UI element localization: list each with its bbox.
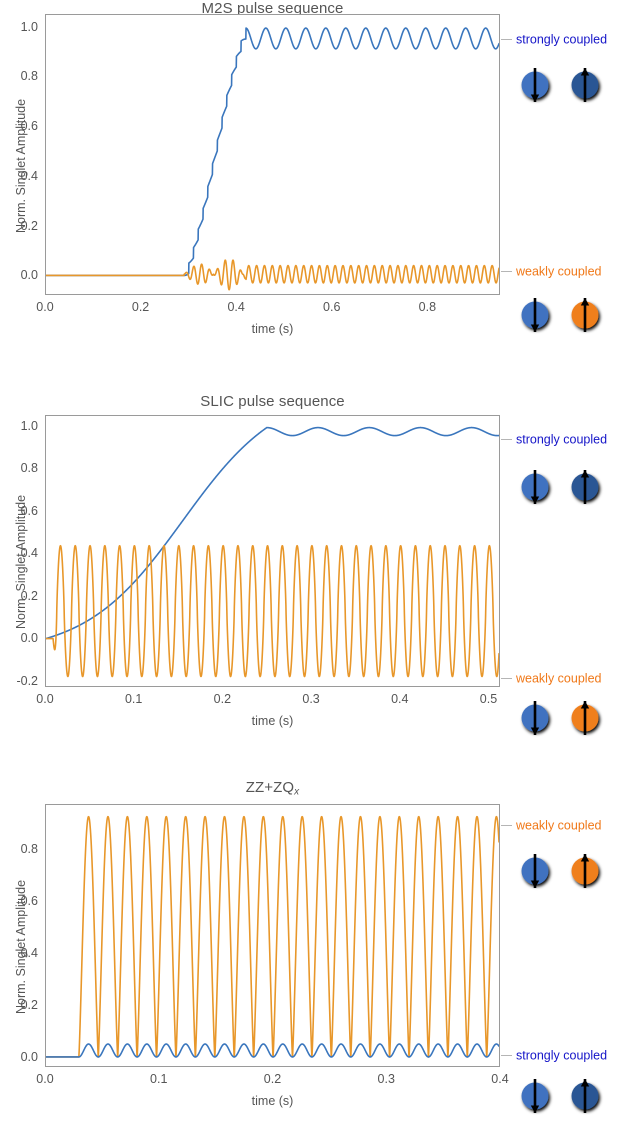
spin-down-light-blue-icon	[515, 464, 555, 510]
y-tick-label: 0.0	[0, 631, 38, 645]
y-axis-label: Norm. Singlet Amplitude	[14, 98, 28, 232]
y-tick-label: 0.8	[0, 69, 38, 83]
x-tick-label: 0.0	[20, 300, 70, 314]
series-line-strongly-coupled	[46, 28, 499, 275]
spin-down-light-blue-icon	[515, 1073, 555, 1119]
x-axis-label: time (s)	[45, 322, 500, 336]
panel-title-text: ZZ+ZQ	[246, 779, 294, 796]
y-tick-label: 0.8	[0, 461, 38, 475]
x-tick-label: 0.0	[20, 692, 70, 706]
plot-area-slic	[45, 415, 500, 687]
spin-pair-strongly-coupled	[515, 464, 625, 520]
spin-up-dark-blue-icon	[565, 464, 605, 510]
annotation-text: weakly coupled	[516, 819, 601, 833]
x-tick-label: 0.0	[20, 1072, 70, 1086]
y-tick-label: 0.0	[0, 268, 38, 282]
panel-title-subscript: x	[294, 787, 299, 798]
spin-up-orange-icon	[565, 695, 605, 741]
annotation-weakly-coupled: weakly coupled	[501, 264, 601, 279]
plot-area-zz_zqx	[45, 804, 500, 1067]
y-tick-label: 0.0	[0, 1050, 38, 1064]
y-tick-label: 1.0	[0, 20, 38, 34]
annotation-leader-line	[501, 439, 512, 440]
annotation-strongly-coupled: strongly coupled	[501, 32, 607, 47]
y-tick-label: 0.8	[0, 842, 38, 856]
annotation-leader-line	[501, 1055, 512, 1056]
chart-panel-zz_zqx: ZZ+ZQx0.00.20.40.60.80.00.10.20.30.4time…	[0, 770, 633, 1139]
panel-title-text: SLIC pulse sequence	[200, 393, 345, 410]
annotation-text: strongly coupled	[516, 433, 607, 447]
pulse-sequence-figure: M2S pulse sequence0.00.20.40.60.81.00.00…	[0, 0, 633, 1139]
annotation-text: strongly coupled	[516, 33, 607, 47]
spin-up-dark-blue-icon	[565, 1073, 605, 1119]
x-tick-label: 0.4	[375, 692, 425, 706]
annotation-strongly-coupled: strongly coupled	[501, 432, 607, 447]
x-tick-label: 0.2	[116, 300, 166, 314]
chart-panel-m2s: M2S pulse sequence0.00.20.40.60.81.00.00…	[0, 0, 633, 360]
y-tick-label: 1.0	[0, 419, 38, 433]
y-axis-label: Norm. Singlet Amplitude	[14, 495, 28, 629]
series-line-weakly-coupled	[46, 260, 499, 290]
annotation-text: weakly coupled	[516, 265, 601, 279]
x-tick-label: 0.6	[307, 300, 357, 314]
plot-area-m2s	[45, 14, 500, 295]
chart-panel-slic: SLIC pulse sequence-0.20.00.20.40.60.81.…	[0, 380, 633, 760]
annotation-text: weakly coupled	[516, 672, 601, 686]
series-line-strongly-coupled	[46, 428, 499, 639]
annotation-weakly-coupled: weakly coupled	[501, 818, 601, 833]
annotation-strongly-coupled: strongly coupled	[501, 1048, 607, 1063]
annotation-leader-line	[501, 271, 512, 272]
annotation-leader-line	[501, 825, 512, 826]
x-axis-label: time (s)	[45, 714, 500, 728]
y-axis-label: Norm. Singlet Amplitude	[14, 879, 28, 1013]
x-tick-label: 0.5	[463, 692, 513, 706]
panel-title-zz_zqx: ZZ+ZQx	[45, 779, 500, 798]
x-tick-label: 0.2	[248, 1072, 298, 1086]
spin-up-orange-icon	[565, 848, 605, 894]
spin-down-blue-icon	[515, 695, 555, 741]
annotation-leader-line	[501, 39, 512, 40]
x-tick-label: 0.4	[211, 300, 261, 314]
x-axis-label: time (s)	[45, 1094, 500, 1108]
x-tick-label: 0.1	[109, 692, 159, 706]
x-tick-label: 0.1	[134, 1072, 184, 1086]
series-line-weakly-coupled	[46, 817, 499, 1057]
x-tick-label: 0.8	[402, 300, 452, 314]
spin-up-orange-icon	[565, 292, 605, 338]
x-tick-label: 0.2	[197, 692, 247, 706]
x-tick-label: 0.3	[361, 1072, 411, 1086]
spin-down-blue-icon	[515, 292, 555, 338]
spin-pair-weakly-coupled	[515, 848, 625, 904]
spin-up-dark-blue-icon	[565, 62, 605, 108]
series-line-weakly-coupled	[46, 546, 499, 677]
annotation-leader-line	[501, 678, 512, 679]
annotation-text: strongly coupled	[516, 1049, 607, 1063]
spin-pair-weakly-coupled	[515, 292, 625, 348]
annotation-weakly-coupled: weakly coupled	[501, 671, 601, 686]
panel-title-slic: SLIC pulse sequence	[45, 393, 500, 410]
spin-pair-weakly-coupled	[515, 695, 625, 751]
spin-down-blue-icon	[515, 848, 555, 894]
spin-pair-strongly-coupled	[515, 62, 625, 118]
spin-down-light-blue-icon	[515, 62, 555, 108]
spin-pair-strongly-coupled	[515, 1073, 625, 1129]
x-tick-label: 0.3	[286, 692, 336, 706]
y-tick-label: -0.2	[0, 674, 38, 688]
